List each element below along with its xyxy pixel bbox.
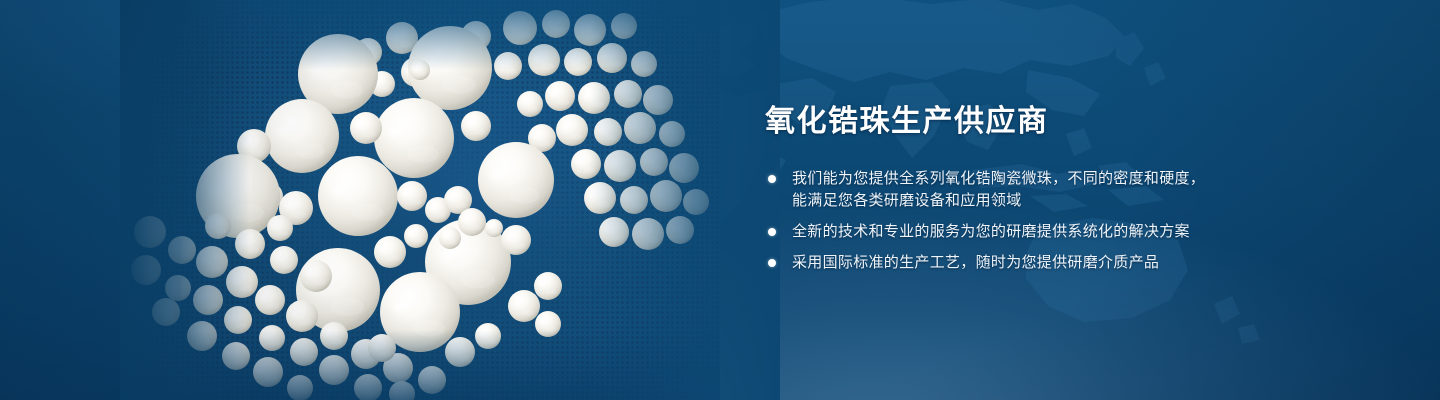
banner-content: 氧化锆珠生产供应商 我们能为您提供全系列氧化锆陶瓷微珠，不同的密度和硬度， 能满…	[765, 104, 1285, 274]
banner-bullet-list: 我们能为您提供全系列氧化锆陶瓷微珠，不同的密度和硬度， 能满足您各类研磨设备和应…	[765, 168, 1285, 274]
bullet-dot-icon	[768, 259, 776, 267]
bullet-text-line1: 我们能为您提供全系列氧化锆陶瓷微珠，不同的密度和硬度，	[792, 170, 1205, 187]
banner-bullet-item: 采用国际标准的生产工艺，随时为您提供研磨介质产品	[765, 252, 1285, 274]
banner-headline: 氧化锆珠生产供应商	[765, 104, 1285, 140]
bullet-dot-icon	[768, 175, 776, 183]
banner-bullet-item: 我们能为您提供全系列氧化锆陶瓷微珠，不同的密度和硬度， 能满足您各类研磨设备和应…	[765, 168, 1285, 212]
bullet-text-line1: 采用国际标准的生产工艺，随时为您提供研磨介质产品	[792, 254, 1159, 271]
hero-banner: 氧化锆珠生产供应商 我们能为您提供全系列氧化锆陶瓷微珠，不同的密度和硬度， 能满…	[0, 0, 1440, 400]
bullet-text-line2: 能满足您各类研磨设备和应用领域	[792, 190, 1285, 212]
bullet-text-line1: 全新的技术和专业的服务为您的研磨提供系统化的解决方案	[792, 223, 1190, 240]
banner-bullet-item: 全新的技术和专业的服务为您的研磨提供系统化的解决方案	[765, 221, 1285, 243]
bullet-dot-icon	[768, 228, 776, 236]
